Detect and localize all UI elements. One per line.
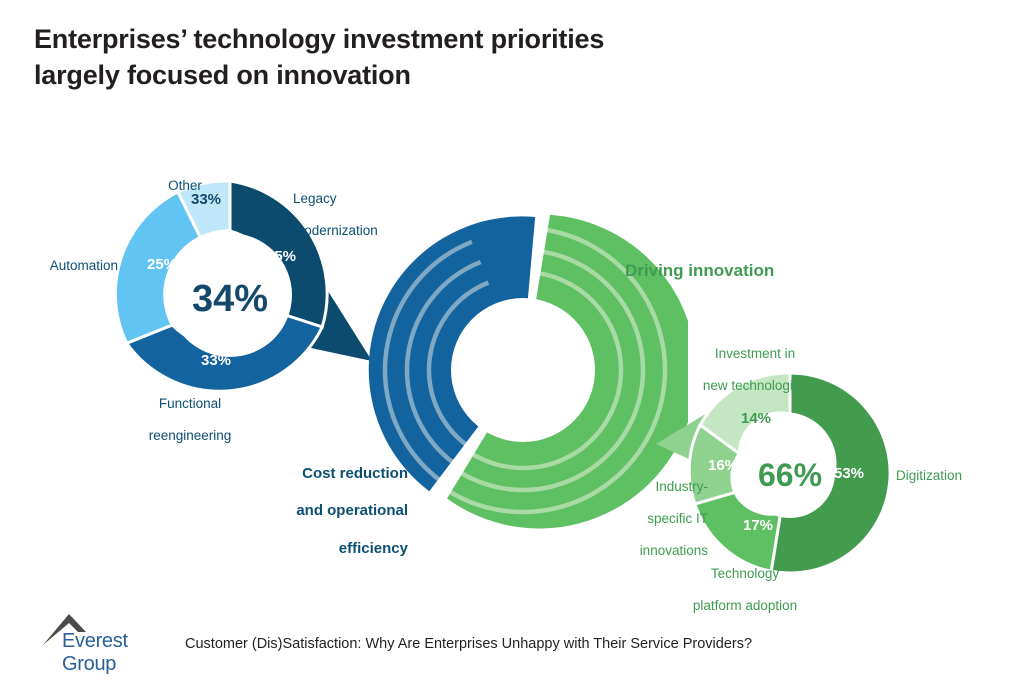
footer: Everest Group Customer (Dis)Satisfaction…: [40, 612, 990, 660]
left-label-automation-text: Automation: [50, 258, 118, 273]
center-donut-hole: [451, 298, 595, 442]
center-label-cost-reduction: Cost reduction and operational efficienc…: [232, 446, 408, 559]
footer-caption: Customer (Dis)Satisfaction: Why Are Ente…: [185, 636, 752, 652]
left-label-functional-line1: Functional: [159, 396, 221, 411]
center-label-driving-innovation: Driving innovation: [625, 241, 825, 281]
everest-group-logo: Everest Group: [40, 612, 180, 656]
right-label-digitization: Digitization: [896, 452, 1016, 484]
right-label-technology-line1: Technology: [711, 566, 779, 581]
right-donut-center-value: 66%: [758, 457, 822, 493]
right-label-investment-line2: new technologies: [703, 378, 807, 393]
right-label-industry-line3: innovations: [640, 543, 708, 558]
left-pct-legacy-modernization: 35%: [266, 248, 296, 265]
infographic-canvas: Enterprises’ technology investment prior…: [0, 0, 1024, 684]
right-pct-digitization: 53%: [834, 465, 864, 482]
right-pct-investment-in-new-technologies: 14%: [741, 410, 771, 427]
right-pct-industry-specific-it-innovations: 16%: [708, 457, 738, 474]
right-label-technology-line2: platform adoption: [693, 598, 797, 613]
center-label-cost-line3: efficiency: [339, 540, 408, 557]
left-label-functional-reengineering: Functional reengineering: [120, 380, 260, 444]
center-label-driving-innovation-text: Driving innovation: [625, 261, 774, 280]
left-label-automation: Automation: [8, 242, 118, 274]
left-label-other: Other: [150, 162, 220, 194]
left-label-legacy-line1: Legacy: [293, 191, 337, 206]
title-line-1: Enterprises’ technology investment prior…: [34, 24, 604, 54]
right-label-investment-line1: Investment in: [715, 346, 795, 361]
center-label-cost-line1: Cost reduction: [302, 465, 408, 482]
left-donut-center-value: 34%: [192, 278, 268, 320]
left-label-functional-line2: reengineering: [149, 428, 232, 443]
left-pct-functional-reengineering: 33%: [201, 352, 231, 369]
left-pct-automation: 25%: [147, 256, 177, 273]
left-label-other-text: Other: [168, 178, 202, 193]
right-label-digitization-text: Digitization: [896, 468, 962, 483]
right-pct-technology-platform-adoption: 17%: [743, 517, 773, 534]
right-label-industry-line1: Industry-: [655, 479, 708, 494]
right-label-investment-in-new-technologies: Investment in new technologies: [680, 330, 830, 394]
right-label-industry-specific-it-innovations: Industry- specific IT innovations: [600, 463, 708, 559]
everest-group-wordmark: Everest Group: [62, 630, 180, 676]
right-label-technology-platform-adoption: Technology platform adoption: [655, 550, 835, 614]
right-label-industry-line2: specific IT: [647, 511, 708, 526]
center-label-cost-line2: and operational: [296, 502, 408, 519]
title-line-2: largely focused on innovation: [34, 58, 794, 94]
page-title: Enterprises’ technology investment prior…: [34, 22, 794, 93]
